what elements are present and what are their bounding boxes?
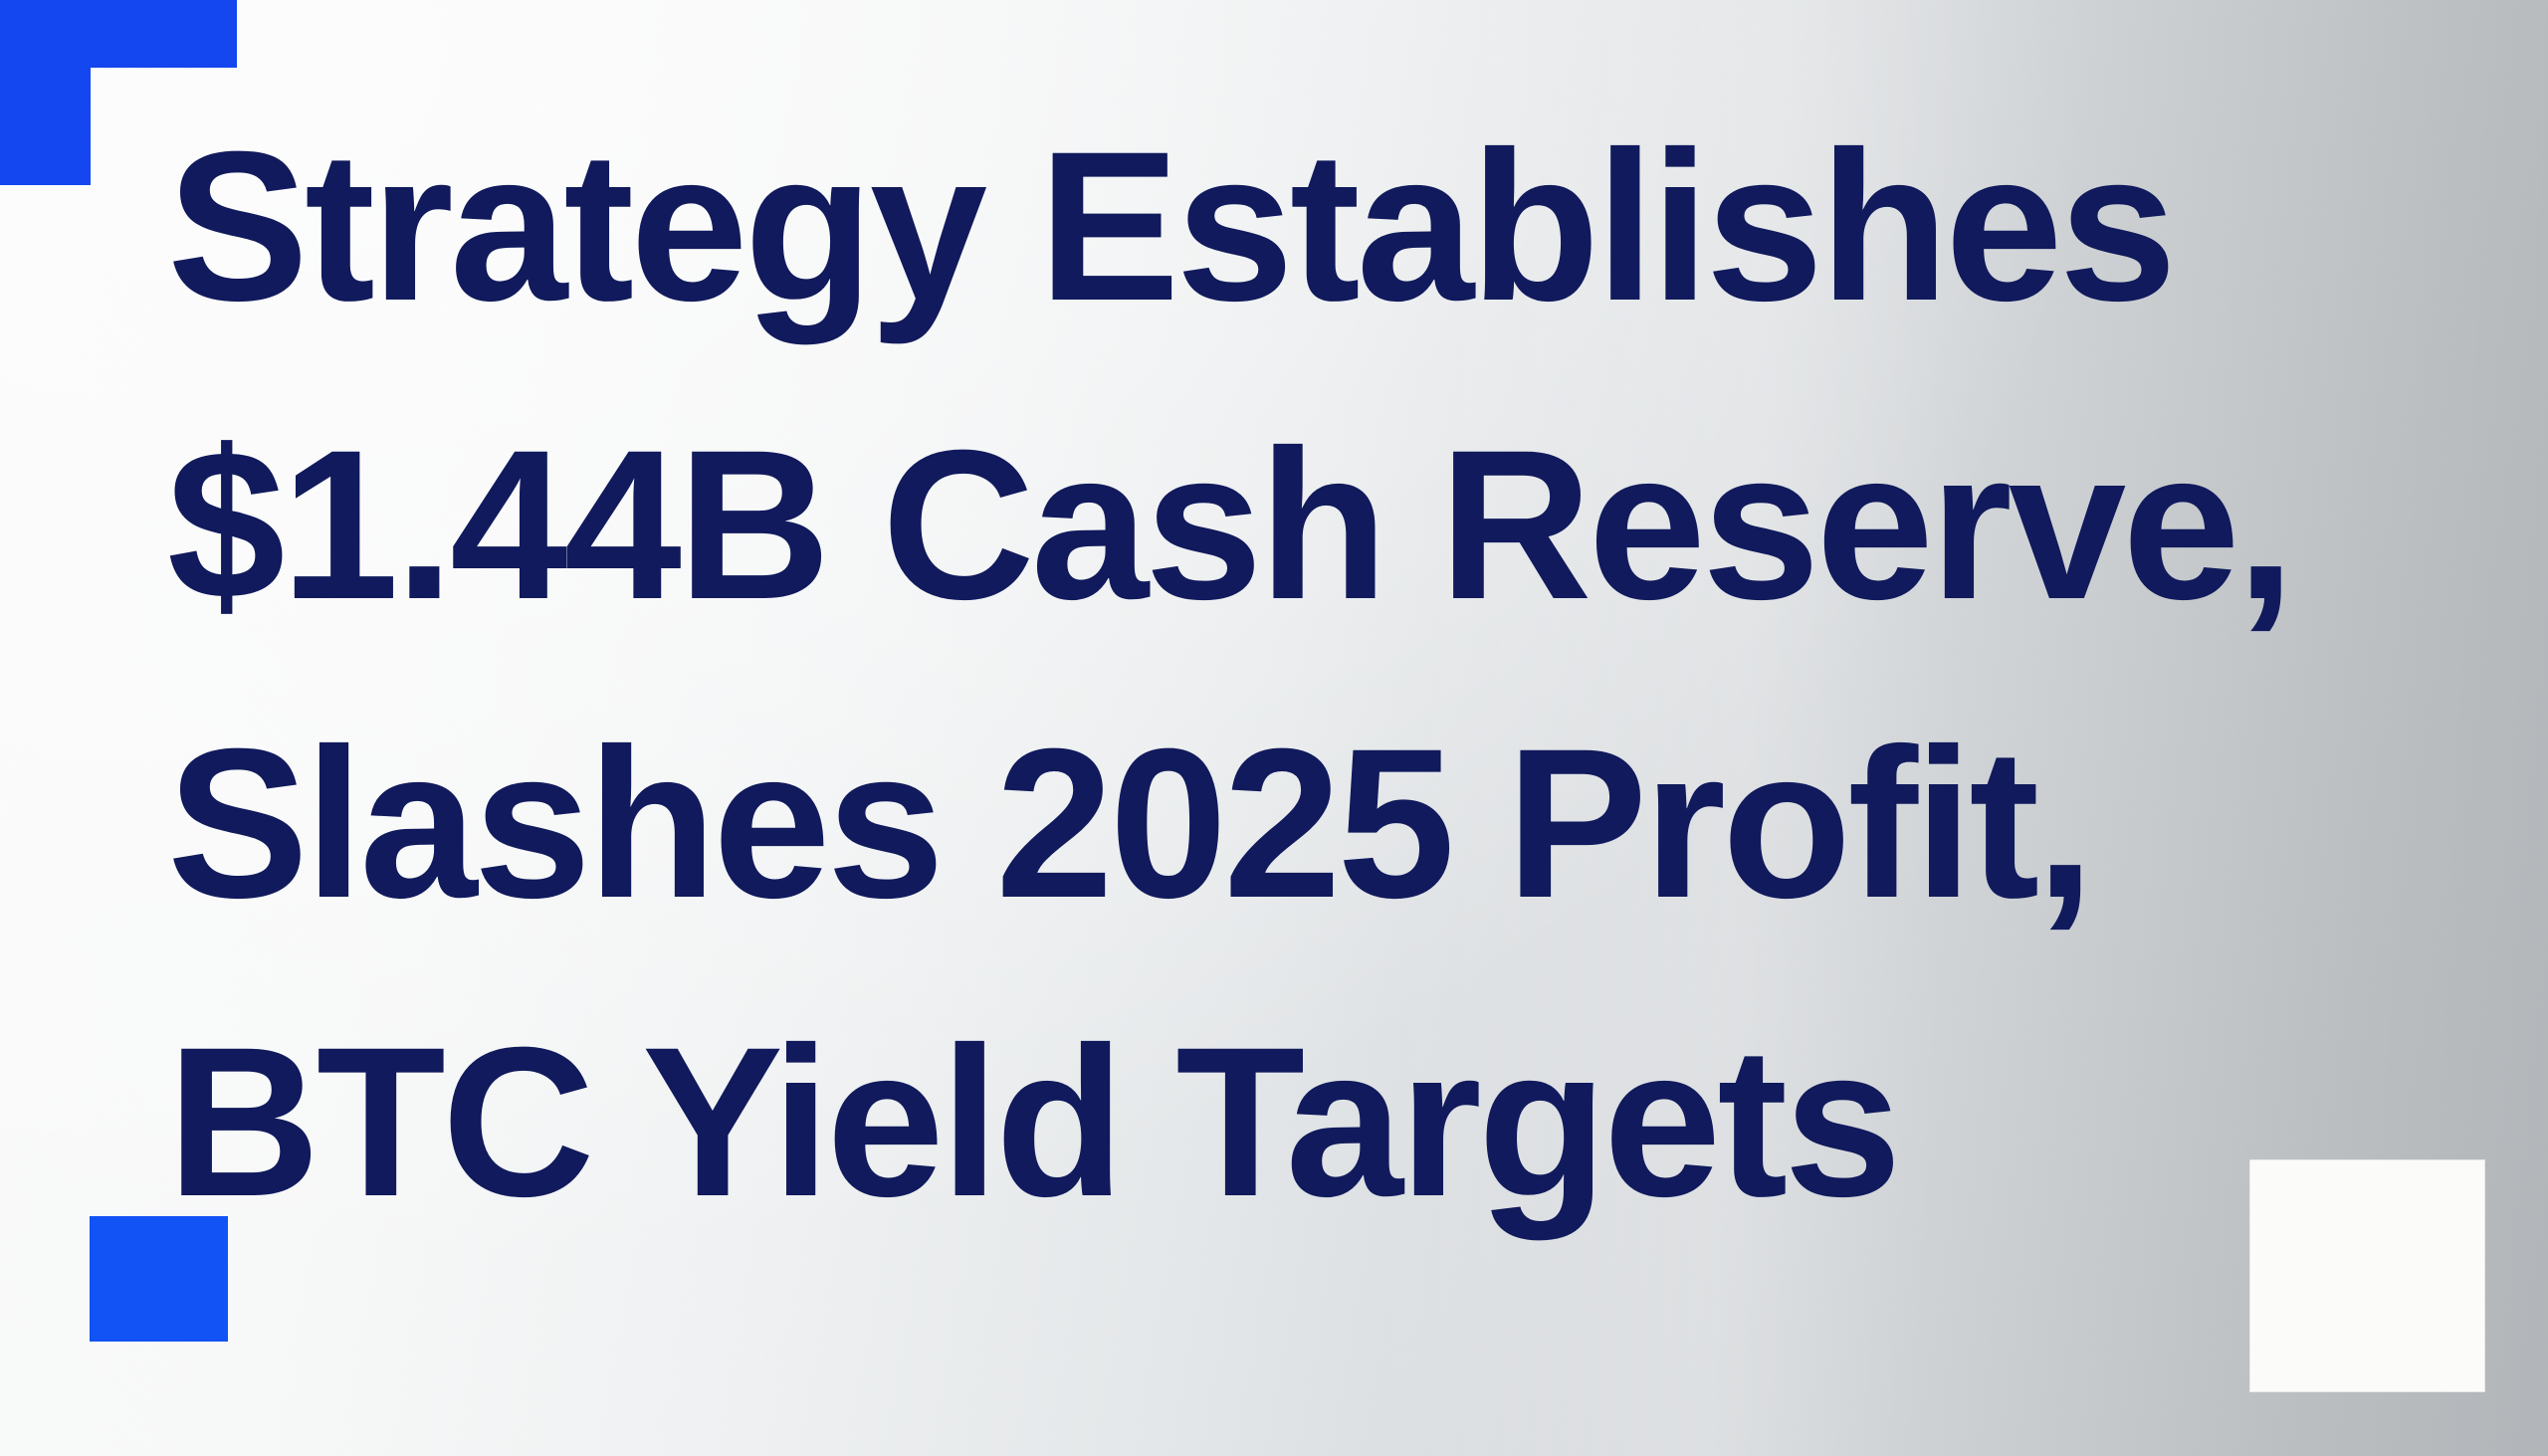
headline-line-1: Strategy Establishes — [167, 78, 2484, 376]
headline-card: Strategy Establishes $1.44B Cash Reserve… — [0, 0, 2548, 1456]
headline-line-4: BTC Yield Targets — [167, 973, 2484, 1272]
headline-line-2: $1.44B Cash Reserve, — [167, 376, 2484, 675]
headline-line-3: Slashes 2025 Profit, — [167, 675, 2484, 973]
blue-corner-accent-vertical-bar — [0, 0, 91, 185]
headline-block: Strategy Establishes $1.44B Cash Reserve… — [167, 78, 2496, 1272]
